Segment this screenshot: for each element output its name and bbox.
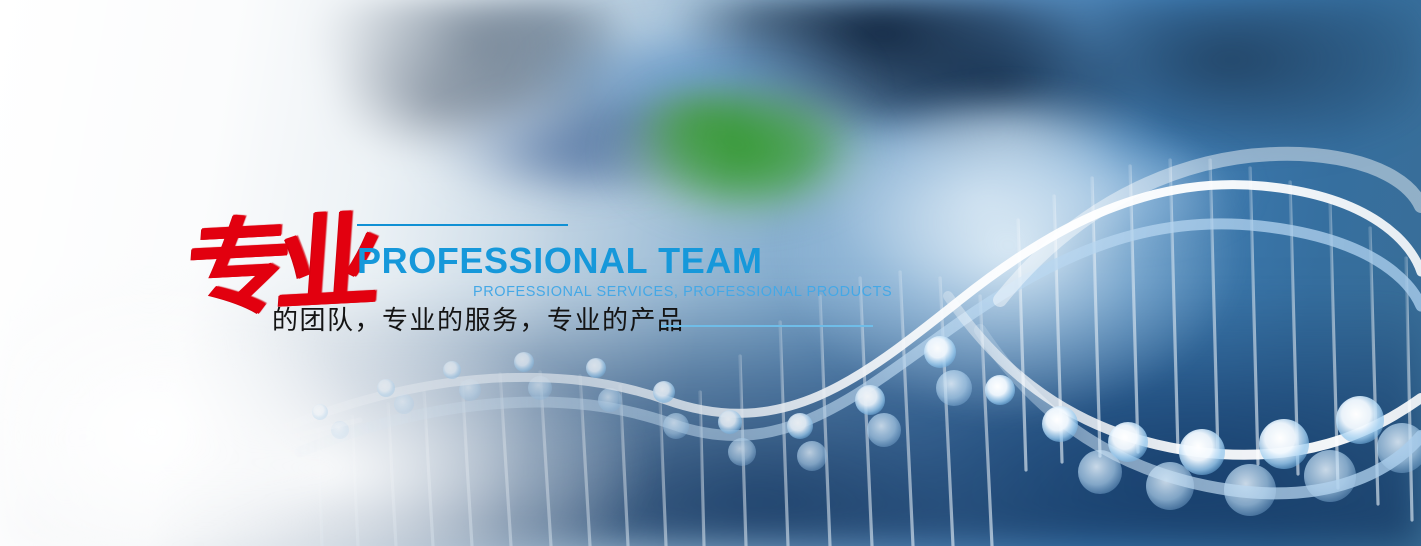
page-title: PROFESSIONAL TEAM xyxy=(357,243,763,279)
page-subtitle: PROFESSIONAL SERVICES, PROFESSIONAL PROD… xyxy=(473,285,892,300)
headline-rule-bottom xyxy=(661,325,873,327)
banner-copy-block: 专业 PROFESSIONAL TEAM PROFESSIONAL SERVIC… xyxy=(0,0,1421,546)
chinese-tagline: 的团队，专业的服务，专业的产品 xyxy=(272,306,685,337)
promo-banner: 专业 PROFESSIONAL TEAM PROFESSIONAL SERVIC… xyxy=(0,0,1421,546)
headline-rule-top xyxy=(357,224,568,226)
